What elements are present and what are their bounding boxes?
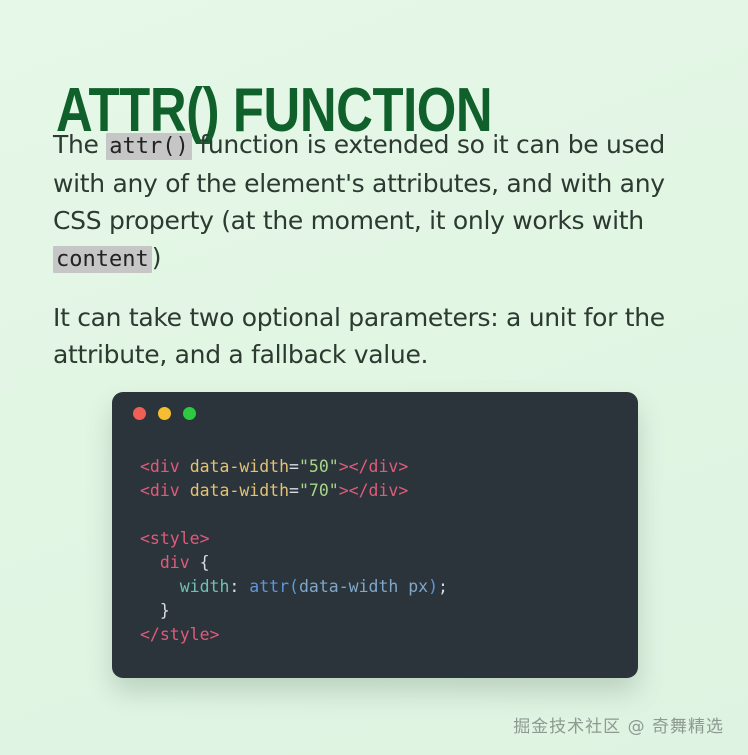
code-line-3 bbox=[140, 503, 638, 527]
body-copy: The attr() function is extended so it ca… bbox=[53, 126, 683, 373]
inline-code-content: content bbox=[53, 246, 152, 273]
code-line-4: <style> bbox=[140, 527, 638, 551]
minimize-button-icon[interactable] bbox=[158, 407, 171, 420]
code-line-5: div { bbox=[140, 551, 638, 575]
code-line-2: <div data-width="70"></div> bbox=[140, 479, 638, 503]
code-line-7: } bbox=[140, 599, 638, 623]
code-line-8: </style> bbox=[140, 623, 638, 647]
paragraph-1-text-3: ) bbox=[152, 243, 161, 272]
slide-canvas: ATTR() FUNCTION The attr() function is e… bbox=[0, 0, 748, 755]
maximize-button-icon[interactable] bbox=[183, 407, 196, 420]
inline-code-attr: attr() bbox=[106, 133, 191, 160]
code-line-6: width: attr(data-width px); bbox=[140, 575, 638, 599]
code-window-titlebar[interactable] bbox=[112, 392, 638, 434]
paragraph-1-text-1: The bbox=[53, 130, 106, 159]
paragraph-1: The attr() function is extended so it ca… bbox=[53, 126, 683, 278]
paragraph-2-text: It can take two optional parameters: a u… bbox=[53, 303, 665, 369]
close-button-icon[interactable] bbox=[133, 407, 146, 420]
code-line-1: <div data-width="50"></div> bbox=[140, 455, 638, 479]
code-block[interactable]: <div data-width="50"></div><div data-wid… bbox=[112, 434, 638, 647]
code-window: <div data-width="50"></div><div data-wid… bbox=[112, 392, 638, 678]
paragraph-2: It can take two optional parameters: a u… bbox=[53, 299, 683, 373]
watermark: 掘金技术社区 @ 奇舞精选 bbox=[513, 712, 724, 737]
